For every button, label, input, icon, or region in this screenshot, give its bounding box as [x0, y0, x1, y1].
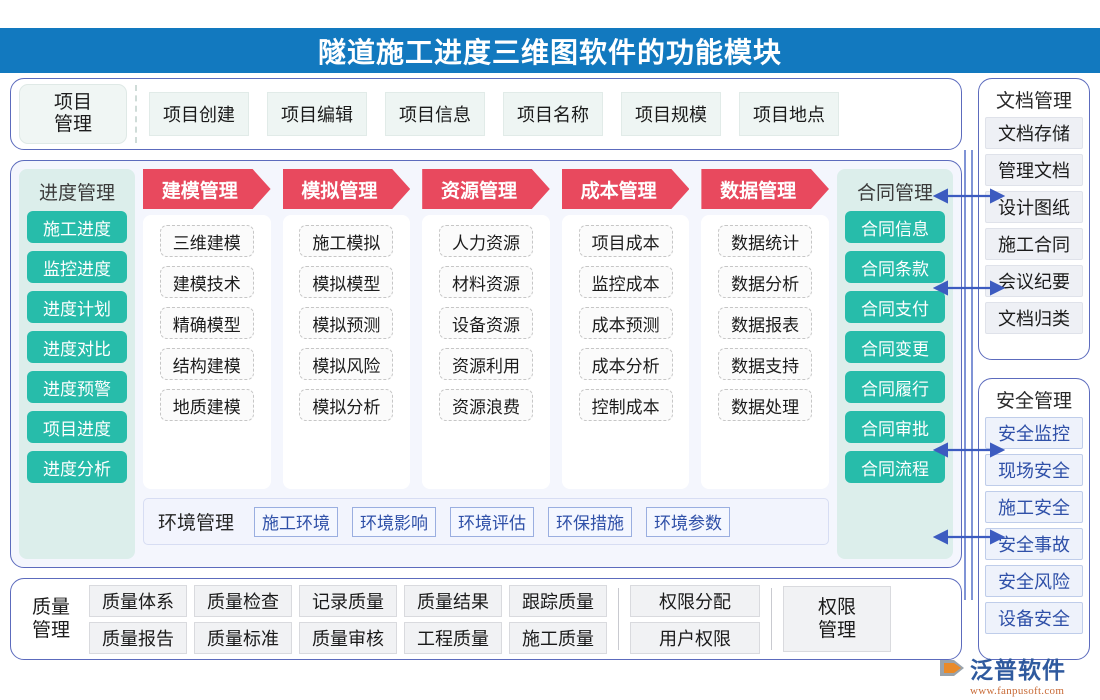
project-item-2[interactable]: 项目编辑: [267, 92, 367, 136]
quality-item-2-2[interactable]: 质量标准: [194, 622, 292, 654]
module-body-2: 施工模拟模拟模型模拟预测模拟风险模拟分析: [283, 215, 411, 489]
module-item-4-2[interactable]: 监控成本: [579, 266, 673, 298]
contract-item-2[interactable]: 合同条款: [845, 251, 945, 283]
module-columns-area: 建模管理三维建模建模技术精确模型结构建模地质建模模拟管理施工模拟模拟模型模拟预测…: [143, 169, 829, 559]
module-body-4: 项目成本监控成本成本预测成本分析控制成本: [562, 215, 690, 489]
contract-management-title: 合同管理: [857, 178, 933, 205]
project-item-3[interactable]: 项目信息: [385, 92, 485, 136]
safety-item-list: 安全监控现场安全施工安全安全事故安全风险设备安全: [985, 417, 1083, 634]
quality-item-5-1[interactable]: 跟踪质量: [509, 585, 607, 617]
progress-item-1[interactable]: 施工进度: [27, 211, 127, 243]
module-item-2-3[interactable]: 模拟预测: [299, 307, 393, 339]
document-item-list: 文档存储管理文档设计图纸施工合同会议纪要文档归类: [985, 117, 1083, 334]
environment-item-4[interactable]: 环保措施: [548, 507, 632, 537]
environment-item-3[interactable]: 环境评估: [450, 507, 534, 537]
environment-management-row: 环境管理 施工环境环境影响环境评估环保措施环境参数: [143, 498, 829, 545]
document-item-2[interactable]: 管理文档: [985, 154, 1083, 186]
module-item-1-2[interactable]: 建模技术: [160, 266, 254, 298]
quality-column-4: 质量结果工程质量: [404, 585, 502, 654]
project-management-title: 项目 管理: [19, 84, 127, 144]
project-management-panel: 项目 管理 项目创建项目编辑项目信息项目名称项目规模项目地点: [10, 78, 962, 150]
safety-management-panel: 安全管理 安全监控现场安全施工安全安全事故安全风险设备安全: [978, 378, 1090, 660]
module-item-4-1[interactable]: 项目成本: [579, 225, 673, 257]
permission-management-title: 权限 管理: [783, 586, 891, 652]
environment-management-title: 环境管理: [158, 508, 234, 535]
contract-item-3[interactable]: 合同支付: [845, 291, 945, 323]
quality-management-title: 质量 管理: [21, 596, 81, 642]
quality-item-1-2[interactable]: 质量报告: [89, 622, 187, 654]
module-columns: 建模管理三维建模建模技术精确模型结构建模地质建模模拟管理施工模拟模拟模型模拟预测…: [143, 169, 829, 489]
project-divider: [135, 85, 137, 143]
module-item-1-5[interactable]: 地质建模: [160, 389, 254, 421]
quality-column-3: 记录质量质量审核: [299, 585, 397, 654]
progress-item-list: 施工进度监控进度进度计划进度对比进度预警项目进度进度分析: [27, 211, 127, 483]
quality-item-1-1[interactable]: 质量体系: [89, 585, 187, 617]
quality-title-line2: 管理: [21, 619, 81, 642]
document-management-panel: 文档管理 文档存储管理文档设计图纸施工合同会议纪要文档归类: [978, 78, 1090, 360]
quality-item-4-2[interactable]: 工程质量: [404, 622, 502, 654]
quality-item-5-2[interactable]: 施工质量: [509, 622, 607, 654]
quality-item-3-1[interactable]: 记录质量: [299, 585, 397, 617]
permission-title-line1: 权限: [818, 596, 856, 619]
module-item-2-4[interactable]: 模拟风险: [299, 348, 393, 380]
module-item-3-2[interactable]: 材料资源: [439, 266, 533, 298]
logo-name: 泛普软件: [970, 651, 1066, 685]
progress-management-title: 进度管理: [39, 178, 115, 205]
permission-item-list: 权限分配用户权限: [630, 585, 760, 654]
quality-column-5: 跟踪质量施工质量: [509, 585, 607, 654]
contract-item-4[interactable]: 合同变更: [845, 331, 945, 363]
fanpu-arrow-icon: [938, 657, 966, 679]
module-item-3-5[interactable]: 资源浪费: [439, 389, 533, 421]
safety-item-5[interactable]: 安全风险: [985, 565, 1083, 597]
module-banner-4[interactable]: 成本管理: [562, 169, 690, 209]
safety-management-title: 安全管理: [985, 386, 1083, 413]
module-item-2-5[interactable]: 模拟分析: [299, 389, 393, 421]
module-item-4-5[interactable]: 控制成本: [579, 389, 673, 421]
core-modules-panel: 进度管理 施工进度监控进度进度计划进度对比进度预警项目进度进度分析 建模管理三维…: [10, 160, 962, 568]
environment-item-5[interactable]: 环境参数: [646, 507, 730, 537]
contract-item-1[interactable]: 合同信息: [845, 211, 945, 243]
document-item-6[interactable]: 文档归类: [985, 302, 1083, 334]
quality-permission-divider: [618, 588, 619, 650]
module-banner-5[interactable]: 数据管理: [701, 169, 829, 209]
document-item-4[interactable]: 施工合同: [985, 228, 1083, 260]
logo-url: www.fanpusoft.com: [970, 685, 1064, 697]
quality-item-grid: 质量体系质量报告质量检查质量标准记录质量质量审核质量结果工程质量跟踪质量施工质量: [89, 585, 607, 654]
progress-item-6[interactable]: 项目进度: [27, 411, 127, 443]
quality-item-3-2[interactable]: 质量审核: [299, 622, 397, 654]
document-item-5[interactable]: 会议纪要: [985, 265, 1083, 297]
brand-logo: 泛普软件 www.fanpusoft.com: [938, 652, 1098, 696]
document-item-3[interactable]: 设计图纸: [985, 191, 1083, 223]
module-item-5-4[interactable]: 数据支持: [718, 348, 812, 380]
safety-item-2[interactable]: 现场安全: [985, 454, 1083, 486]
module-item-3-3[interactable]: 设备资源: [439, 307, 533, 339]
environment-item-list: 施工环境环境影响环境评估环保措施环境参数: [254, 507, 730, 537]
module-item-4-4[interactable]: 成本分析: [579, 348, 673, 380]
contract-management-column: 合同管理 合同信息合同条款合同支付合同变更合同履行合同审批合同流程: [837, 169, 953, 559]
module-item-5-1[interactable]: 数据统计: [718, 225, 812, 257]
progress-item-5[interactable]: 进度预警: [27, 371, 127, 403]
module-item-5-5[interactable]: 数据处理: [718, 389, 812, 421]
module-item-4-3[interactable]: 成本预测: [579, 307, 673, 339]
permission-title-divider: [771, 588, 772, 650]
module-column-1: 建模管理三维建模建模技术精确模型结构建模地质建模: [143, 169, 271, 489]
progress-management-column: 进度管理 施工进度监控进度进度计划进度对比进度预警项目进度进度分析: [19, 169, 135, 559]
quality-title-line1: 质量: [21, 596, 81, 619]
project-item-4[interactable]: 项目名称: [503, 92, 603, 136]
title-bar: 隧道施工进度三维图软件的功能模块: [0, 28, 1100, 73]
module-column-3: 资源管理人力资源材料资源设备资源资源利用资源浪费: [422, 169, 550, 489]
contract-item-6[interactable]: 合同审批: [845, 411, 945, 443]
module-body-1: 三维建模建模技术精确模型结构建模地质建模: [143, 215, 271, 489]
diagram-root: 隧道施工进度三维图软件的功能模块 项目 管理 项目创建项目编辑项目信息项目名称项…: [0, 0, 1100, 700]
module-item-2-1[interactable]: 施工模拟: [299, 225, 393, 257]
quality-item-2-1[interactable]: 质量检查: [194, 585, 292, 617]
project-item-6[interactable]: 项目地点: [739, 92, 839, 136]
contract-item-5[interactable]: 合同履行: [845, 371, 945, 403]
safety-item-4[interactable]: 安全事故: [985, 528, 1083, 560]
document-item-1[interactable]: 文档存储: [985, 117, 1083, 149]
module-item-1-4[interactable]: 结构建模: [160, 348, 254, 380]
safety-item-6[interactable]: 设备安全: [985, 602, 1083, 634]
quality-column-2: 质量检查质量标准: [194, 585, 292, 654]
module-column-2: 模拟管理施工模拟模拟模型模拟预测模拟风险模拟分析: [283, 169, 411, 489]
project-title-line1: 项目: [54, 92, 92, 114]
page-title: 隧道施工进度三维图软件的功能模块: [318, 31, 782, 71]
module-banner-2[interactable]: 模拟管理: [283, 169, 411, 209]
module-banner-3[interactable]: 资源管理: [422, 169, 550, 209]
project-item-list: 项目创建项目编辑项目信息项目名称项目规模项目地点: [149, 92, 839, 136]
progress-item-3[interactable]: 进度计划: [27, 291, 127, 323]
document-management-title: 文档管理: [985, 86, 1083, 113]
module-body-5: 数据统计数据分析数据报表数据支持数据处理: [701, 215, 829, 489]
safety-item-3[interactable]: 施工安全: [985, 491, 1083, 523]
quality-management-panel: 质量 管理 质量体系质量报告质量检查质量标准记录质量质量审核质量结果工程质量跟踪…: [10, 578, 962, 660]
module-item-5-3[interactable]: 数据报表: [718, 307, 812, 339]
permission-title-line2: 管理: [818, 619, 856, 642]
module-item-3-1[interactable]: 人力资源: [439, 225, 533, 257]
module-item-2-2[interactable]: 模拟模型: [299, 266, 393, 298]
module-item-5-2[interactable]: 数据分析: [718, 266, 812, 298]
contract-item-list: 合同信息合同条款合同支付合同变更合同履行合同审批合同流程: [845, 211, 945, 483]
quality-column-1: 质量体系质量报告: [89, 585, 187, 654]
contract-item-7[interactable]: 合同流程: [845, 451, 945, 483]
module-banner-1[interactable]: 建模管理: [143, 169, 271, 209]
safety-item-1[interactable]: 安全监控: [985, 417, 1083, 449]
permission-item-1[interactable]: 权限分配: [630, 585, 760, 617]
module-column-5: 数据管理数据统计数据分析数据报表数据支持数据处理: [701, 169, 829, 489]
module-column-4: 成本管理项目成本监控成本成本预测成本分析控制成本: [562, 169, 690, 489]
permission-item-2[interactable]: 用户权限: [630, 622, 760, 654]
progress-item-7[interactable]: 进度分析: [27, 451, 127, 483]
quality-item-4-1[interactable]: 质量结果: [404, 585, 502, 617]
project-item-5[interactable]: 项目规模: [621, 92, 721, 136]
module-body-3: 人力资源材料资源设备资源资源利用资源浪费: [422, 215, 550, 489]
progress-item-4[interactable]: 进度对比: [27, 331, 127, 363]
project-item-1[interactable]: 项目创建: [149, 92, 249, 136]
environment-item-1[interactable]: 施工环境: [254, 507, 338, 537]
project-title-line2: 管理: [54, 114, 92, 136]
progress-item-2[interactable]: 监控进度: [27, 251, 127, 283]
environment-item-2[interactable]: 环境影响: [352, 507, 436, 537]
module-item-1-3[interactable]: 精确模型: [160, 307, 254, 339]
module-item-1-1[interactable]: 三维建模: [160, 225, 254, 257]
module-item-3-4[interactable]: 资源利用: [439, 348, 533, 380]
